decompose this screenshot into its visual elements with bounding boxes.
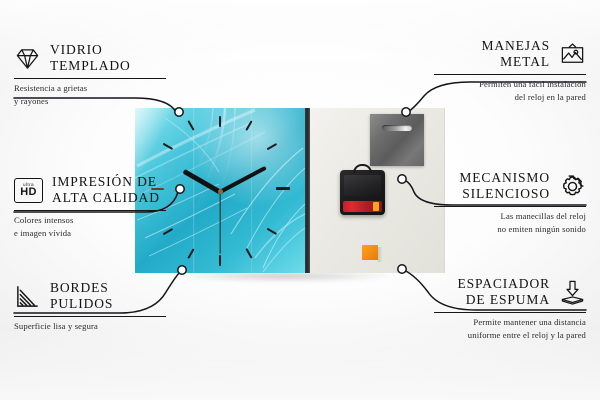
feature-header: MANEJAS METAL (434, 38, 586, 74)
feature-header: VIDRIO TEMPLADO (14, 42, 166, 78)
feature-subtitle: Colores intensos e imagen vívida (14, 211, 166, 239)
ultra-hd-icon: ultra HD (14, 178, 43, 203)
diamond-icon (14, 45, 41, 72)
feature-subtitle: Permiten una fácil instalación del reloj… (434, 75, 586, 103)
metal-hanger (370, 114, 424, 166)
clock-tick (276, 187, 290, 190)
feature-subtitle: Superficie lisa y segura (14, 317, 166, 332)
feature-title: MANEJAS METAL (481, 38, 550, 71)
feature-manejas-metal: MANEJAS METAL Permiten una fácil instala… (434, 38, 586, 103)
feature-title: IMPRESIÓN DE ALTA CALIDAD (52, 174, 160, 207)
feature-subtitle: Permite mantener una distancia uniforme … (434, 313, 586, 341)
mechanism-body (344, 175, 381, 196)
feature-title: VIDRIO TEMPLADO (50, 42, 131, 75)
clock-back-panel (310, 108, 445, 273)
infographic-canvas: VIDRIO TEMPLADO Resistencia a grietas y … (0, 0, 600, 400)
product-image (135, 108, 445, 273)
feature-header: MECANISMO SILENCIOSO (434, 170, 586, 206)
clock-tick (219, 116, 221, 127)
clock-pivot (218, 189, 223, 194)
clock-tick (219, 255, 221, 266)
foam-spacer (362, 245, 378, 260)
arrow-onto-pad-icon (559, 279, 586, 306)
feature-header: ESPACIADOR DE ESPUMA (434, 276, 586, 312)
feature-subtitle: Resistencia a grietas y rayones (14, 79, 166, 107)
product-shadow (135, 272, 453, 288)
feature-header: BORDES PULIDOS (14, 280, 166, 316)
polished-edge-icon (14, 283, 41, 310)
feature-title: BORDES PULIDOS (50, 280, 113, 313)
feature-mecanismo-silencioso: MECANISMO SILENCIOSO Las manecillas del … (434, 170, 586, 235)
feature-bordes-pulidos: BORDES PULIDOS Superficie lisa y segura (14, 280, 166, 333)
feature-title: MECANISMO SILENCIOSO (459, 170, 550, 203)
feature-header: ultra HD IMPRESIÓN DE ALTA CALIDAD (14, 174, 166, 210)
battery (343, 201, 382, 212)
gear-icon (559, 173, 586, 200)
clock-mechanism (340, 170, 385, 215)
feature-title: ESPACIADOR DE ESPUMA (457, 276, 550, 309)
hanger-slot (382, 125, 412, 131)
feature-impresion-alta-calidad: ultra HD IMPRESIÓN DE ALTA CALIDAD Color… (14, 174, 166, 239)
feature-espaciador-espuma: ESPACIADOR DE ESPUMA Permite mantener un… (434, 276, 586, 341)
feature-vidrio-templado: VIDRIO TEMPLADO Resistencia a grietas y … (14, 42, 166, 107)
picture-hanger-icon (559, 41, 586, 68)
clock-second-hand (219, 192, 220, 254)
feature-subtitle: Las manecillas del reloj no emiten ningú… (434, 207, 586, 235)
